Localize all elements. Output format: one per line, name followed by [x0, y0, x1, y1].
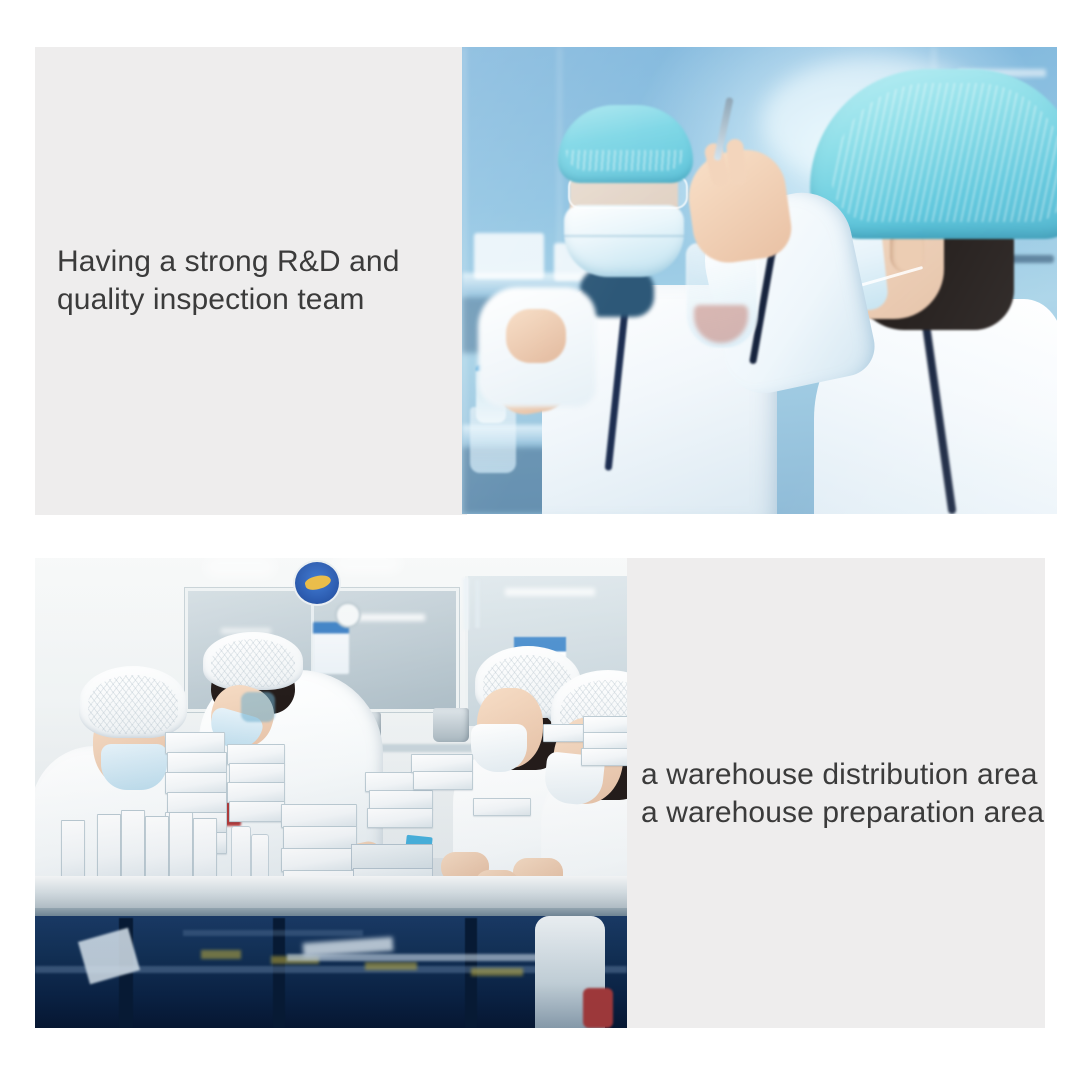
- caption-warehouse-areas: a warehouse distribution area a warehous…: [641, 756, 1061, 832]
- caption-rnd-quality: Having a strong R&D and quality inspecti…: [57, 243, 457, 319]
- lab-quality-inspection-photo: [462, 47, 1057, 514]
- photo-grade: [35, 558, 627, 1028]
- page-root: Having a strong R&D and quality inspecti…: [0, 0, 1080, 1080]
- section-rnd-quality: Having a strong R&D and quality inspecti…: [35, 47, 1057, 515]
- glass-sheen: [462, 47, 1057, 514]
- warehouse-packing-photo: [35, 558, 627, 1028]
- section-warehouse-areas: a warehouse distribution area a warehous…: [35, 558, 1045, 1028]
